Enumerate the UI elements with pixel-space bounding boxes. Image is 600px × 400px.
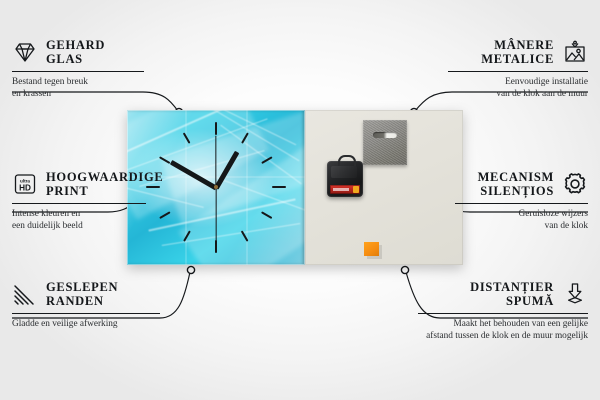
quartz-movement: [327, 161, 363, 197]
connector-node-ground-edges: [187, 266, 194, 273]
connector-node-foam-spacer: [401, 266, 408, 273]
feature-divider: [448, 71, 588, 72]
feature-hd-print: ultra HD HOOGWAARDIGE PRINT Intense kleu…: [12, 170, 146, 232]
feature-divider: [12, 313, 160, 314]
feature-subtitle: Intense kleuren en een duidelijk beeld: [12, 208, 146, 232]
gear-icon: [562, 171, 588, 197]
battery: [330, 185, 360, 194]
feature-divider: [12, 71, 144, 72]
press-down-icon: [562, 281, 588, 307]
feature-tempered-glass: GEHARD GLAS Bestand tegen breuk en krass…: [12, 38, 144, 100]
svg-text:HD: HD: [19, 183, 31, 192]
hanger-slot: [373, 132, 397, 138]
product-image: [127, 110, 463, 265]
battery-plus-terminal: [353, 186, 359, 193]
movement-detail: [331, 166, 357, 178]
hanging-frame-icon: [562, 39, 588, 65]
beveled-edge-icon: [12, 281, 38, 307]
feature-divider: [418, 313, 588, 314]
feature-subtitle: Maakt het behouden van een gelijke afsta…: [418, 318, 588, 342]
diamond-icon: [12, 39, 38, 65]
feature-title: GESLEPEN RANDEN: [46, 280, 118, 308]
feature-silent-mechanism: MECANISM SILENȚIOS Geruisloze wijzers va…: [455, 170, 588, 232]
hanging-loop: [338, 155, 356, 166]
feature-subtitle: Gladde en veilige afwerking: [12, 318, 160, 330]
feature-subtitle: Eenvoudige installatie van de klok aan d…: [448, 76, 588, 100]
feature-title: MÂNERE METALICE: [481, 38, 554, 66]
battery-label-band: [333, 188, 349, 191]
feature-metal-handles: MÂNERE METALICE Eenvoudige installatie v…: [448, 38, 588, 100]
feature-title: DISTANȚIER SPUMĂ: [470, 280, 554, 308]
feature-divider: [455, 203, 588, 204]
metal-hanger-plate: [363, 120, 407, 165]
infographic-canvas: GEHARD GLAS Bestand tegen breuk en krass…: [0, 0, 600, 400]
ultra-hd-icon: ultra HD: [12, 171, 38, 197]
feature-title: MECANISM SILENȚIOS: [478, 170, 554, 198]
feature-title: GEHARD GLAS: [46, 38, 105, 66]
foam-spacer: [364, 242, 379, 256]
feature-subtitle: Bestand tegen breuk en krassen: [12, 76, 144, 100]
feature-ground-edges: GESLEPEN RANDEN Gladde en veilige afwerk…: [12, 280, 160, 330]
feature-foam-spacer: DISTANȚIER SPUMĂ Maakt het behouden van …: [418, 280, 588, 342]
feature-title: HOOGWAARDIGE PRINT: [46, 170, 163, 198]
feature-divider: [12, 203, 146, 204]
feature-subtitle: Geruisloze wijzers van de klok: [455, 208, 588, 232]
clock-back-panel: [305, 110, 463, 265]
